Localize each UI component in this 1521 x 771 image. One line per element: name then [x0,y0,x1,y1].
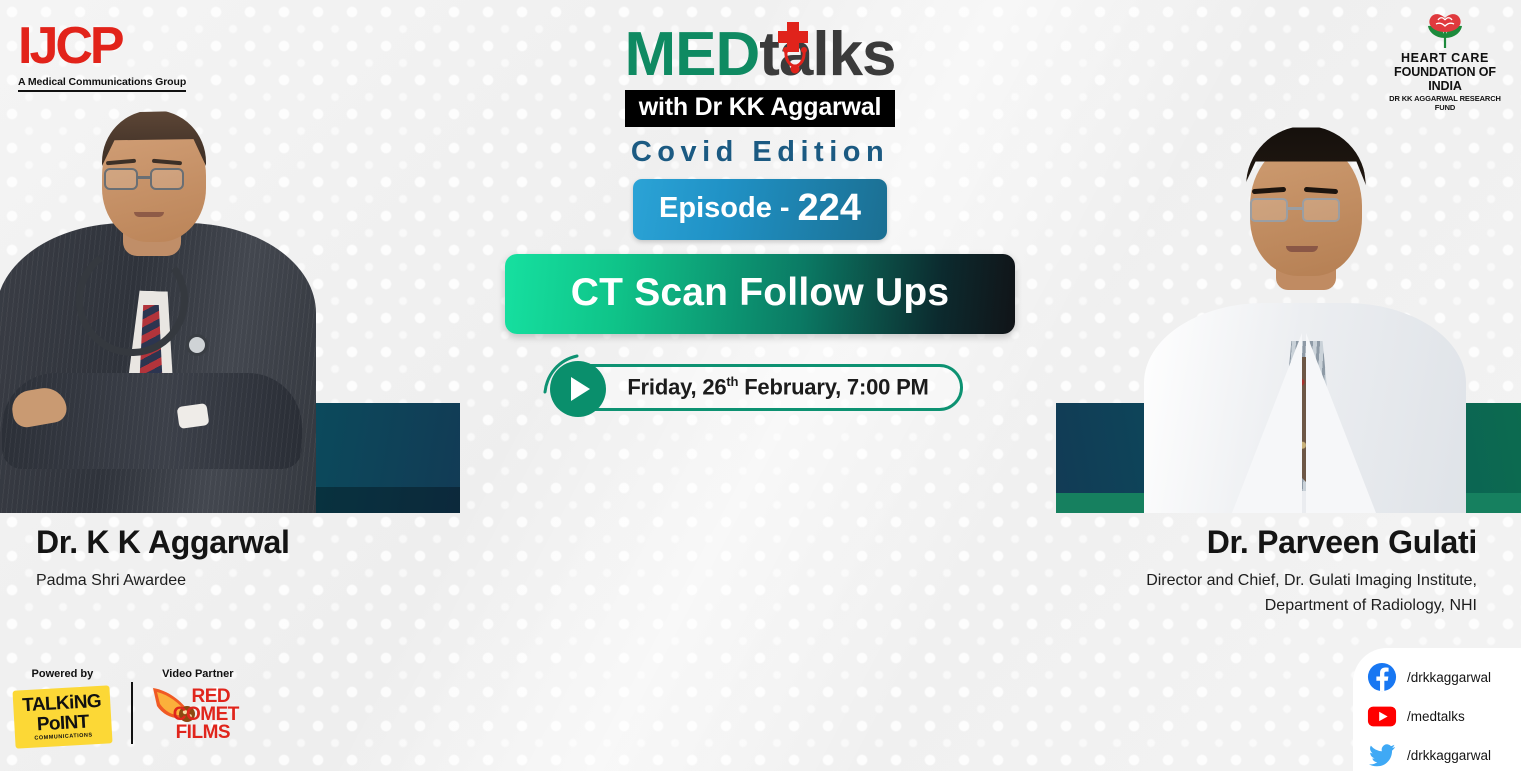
speaker-name: Dr. Parveen Gulati [1146,524,1477,561]
topic-banner: CT Scan Follow Ups [505,254,1015,334]
ijcp-logo: IJCP A Medical Communications Group [18,20,186,92]
powered-by-block: Powered by TALKiNG PoINT COMMUNICATIONS [14,668,111,746]
date-day: Friday, 26 [627,375,726,400]
ijcp-tagline: A Medical Communications Group [18,76,186,92]
heart-care-foundation-logo: HEART CARE FOUNDATION OF INDIA DR KK AGG… [1381,8,1509,112]
date-suffix: th [726,374,738,389]
social-links-panel: /drkkaggarwal /medtalks /drkkaggarwal [1353,648,1521,771]
speaker-caption-right: Dr. Parveen Gulati Director and Chief, D… [1146,524,1477,619]
speaker-photo-parveen-gulati [1140,96,1470,513]
play-button[interactable] [550,361,606,417]
video-partner-block: Video Partner RED COMET FILMS [155,668,241,754]
poster-canvas: IJCP A Medical Communications Group HEAR… [0,0,1521,771]
play-triangle-icon [571,377,590,401]
episode-badge: Episode -224 [633,179,887,240]
eyeglass-lens-left [104,168,138,190]
datetime-text: Friday, 26th February, 7:00 PM [566,374,960,400]
youtube-icon [1367,701,1397,731]
twitter-icon [1367,740,1397,770]
speaker-role: Director and Chief, Dr. Gulati Imaging I… [1146,569,1477,619]
show-lockup: MEDtalks with Dr KK Aggarwal Covid Editi… [505,24,1015,414]
hcfi-line-1: HEART CARE [1381,51,1509,65]
youtube-handle: /medtalks [1407,709,1465,724]
powered-by-label: Powered by [14,668,111,680]
social-link-twitter[interactable]: /drkkaggarwal [1367,740,1511,770]
shirt-cuff [177,403,210,429]
speaker-caption-left: Dr. K K Aggarwal Padma Shri Awardee [36,524,290,594]
facebook-icon [1367,662,1397,692]
speaker-role: Padma Shri Awardee [36,569,290,594]
talking-point-logo: TALKiNG PoINT COMMUNICATIONS [12,685,112,748]
social-link-youtube[interactable]: /medtalks [1367,701,1511,731]
ijcp-wordmark: IJCP [18,20,186,72]
date-rest: February, 7:00 PM [738,375,928,400]
heart-rose-icon [1381,8,1509,50]
speaker-role-line-2: Department of Radiology, NHI [1265,597,1477,614]
hcfi-line-3: DR KK AGGARWAL RESEARCH FUND [1381,94,1509,112]
twitter-handle: /drkkaggarwal [1407,748,1491,763]
video-partner-label: Video Partner [155,668,241,680]
stethoscope-cross-icon [773,20,817,74]
episode-number: 224 [798,187,861,229]
partner-divider [131,682,133,744]
eyeglass-bridge [1288,207,1302,210]
datetime-pill: Friday, 26th February, 7:00 PM [563,364,963,411]
medtalks-wordmark: MEDtalks [624,24,895,86]
partner-logos: Powered by TALKiNG PoINT COMMUNICATIONS … [14,668,241,754]
eyeglass-lens-right [150,168,184,190]
mouth [134,212,164,217]
speaker-photo-kk-aggarwal [0,84,320,513]
host-name-bar: with Dr KK Aggarwal [625,90,896,127]
topic-title: CT Scan Follow Ups [571,271,949,314]
edition-label: Covid Edition [505,136,1015,169]
red-comet-line-3: FILMS [165,724,241,742]
red-comet-films-logo: RED COMET FILMS [155,688,241,754]
talking-point-line-1: TALKiNG [22,692,102,715]
facebook-handle: /drkkaggarwal [1407,670,1491,685]
eyeglass-lens-right [1302,198,1340,222]
eyeglass-bridge [138,176,150,179]
wordmark-med: MED [624,20,759,89]
eyeglass-lens-left [1250,198,1288,222]
episode-label: Episode - [659,192,790,224]
mouth [1286,246,1318,252]
hcfi-line-2: FOUNDATION OF INDIA [1381,65,1509,93]
speaker-name: Dr. K K Aggarwal [36,524,290,561]
broadcast-datetime-row: Friday, 26th February, 7:00 PM [505,364,1015,414]
social-link-facebook[interactable]: /drkkaggarwal [1367,662,1511,692]
speaker-role-line-1: Director and Chief, Dr. Gulati Imaging I… [1146,572,1477,589]
stethoscope-bell [186,334,208,356]
